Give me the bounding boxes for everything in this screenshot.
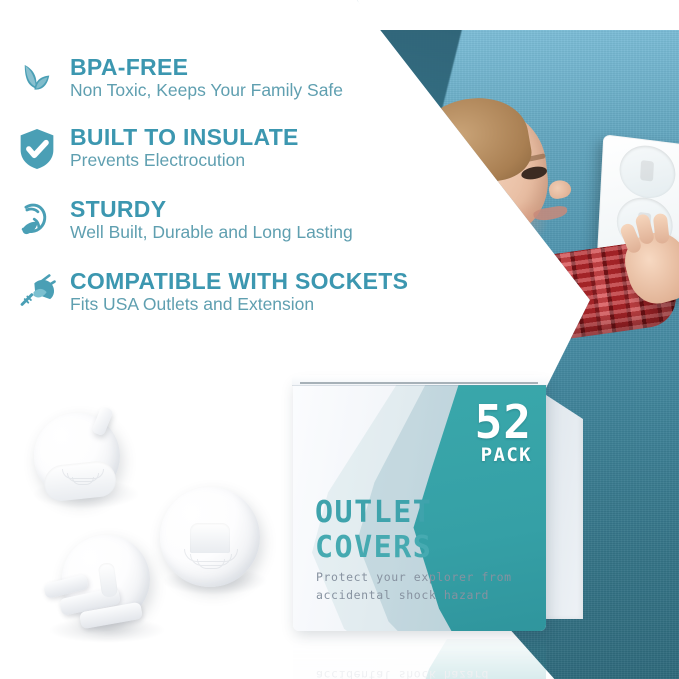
finger [653,213,670,244]
box-lid-seam [300,382,538,384]
baby-cheek [502,200,552,245]
pack-count: 52 [436,401,532,443]
feature-subtitle: Prevents Electrocution [70,150,299,170]
feature-subtitle: Non Toxic, Keeps Your Family Safe [70,80,343,100]
box-title-line2: COVERS [315,530,432,565]
product-box: 52 PACK OUTLET COVERS Protect your explo… [293,375,581,633]
reflection-tagline: Protect your explorer from accidental sh… [316,665,512,679]
angled-plug-cover [24,405,144,520]
product-image: BPA-FREE Non Toxic, Keeps Your Family Sa… [0,0,679,679]
pack-badge: 52 PACK [436,401,532,466]
feature-title: COMPATIBLE WITH SOCKETS [70,269,408,293]
box-title: OUTLET COVERS [315,495,432,566]
box-title-line1: OUTLET [315,495,432,530]
feature-subtitle: Fits USA Outlets and Extension [70,294,408,314]
flexed-arm-icon [14,197,60,245]
box-tagline-line2: accidental shock hazard [316,587,512,605]
box-reflection: Protect your explorer from accidental sh… [293,631,583,679]
box-front-face: 52 PACK OUTLET COVERS Protect your explo… [293,381,546,631]
product-samples [18,405,268,650]
leaf-icon [14,55,60,103]
feature-subtitle: Well Built, Durable and Long Lasting [70,222,353,242]
box-lid [292,375,547,385]
three-prong-plug-cover [44,535,174,645]
baby-nose [548,179,573,201]
shield-check-icon [14,125,60,173]
feature-sturdy: STURDY Well Built, Durable and Long Last… [14,197,444,245]
box-side-face [543,393,583,619]
feature-title: STURDY [70,197,353,221]
feature-title: BUILT TO INSULATE [70,125,299,149]
baby-neck [445,221,518,278]
box-tagline-line1: Protect your explorer from [316,569,512,587]
plug-icon [14,269,60,317]
grip-ridges [184,549,238,575]
feature-compatible-with-sockets: COMPATIBLE WITH SOCKETS Fits USA Outlets… [14,269,444,317]
round-outlet-cover [160,487,270,599]
feature-built-to-insulate: BUILT TO INSULATE Prevents Electrocution [14,125,444,173]
feature-title: BPA-FREE [70,55,343,79]
pack-label: PACK [436,444,532,466]
feature-list: BPA-FREE Non Toxic, Keeps Your Family Sa… [14,55,444,337]
baby-ear [452,175,485,212]
grip-ridges [58,469,106,493]
box-tagline: Protect your explorer from accidental sh… [316,569,512,605]
feature-bpa-free: BPA-FREE Non Toxic, Keeps Your Family Sa… [14,55,444,103]
reflection-tagline-line2: accidental shock hazard [316,665,512,679]
